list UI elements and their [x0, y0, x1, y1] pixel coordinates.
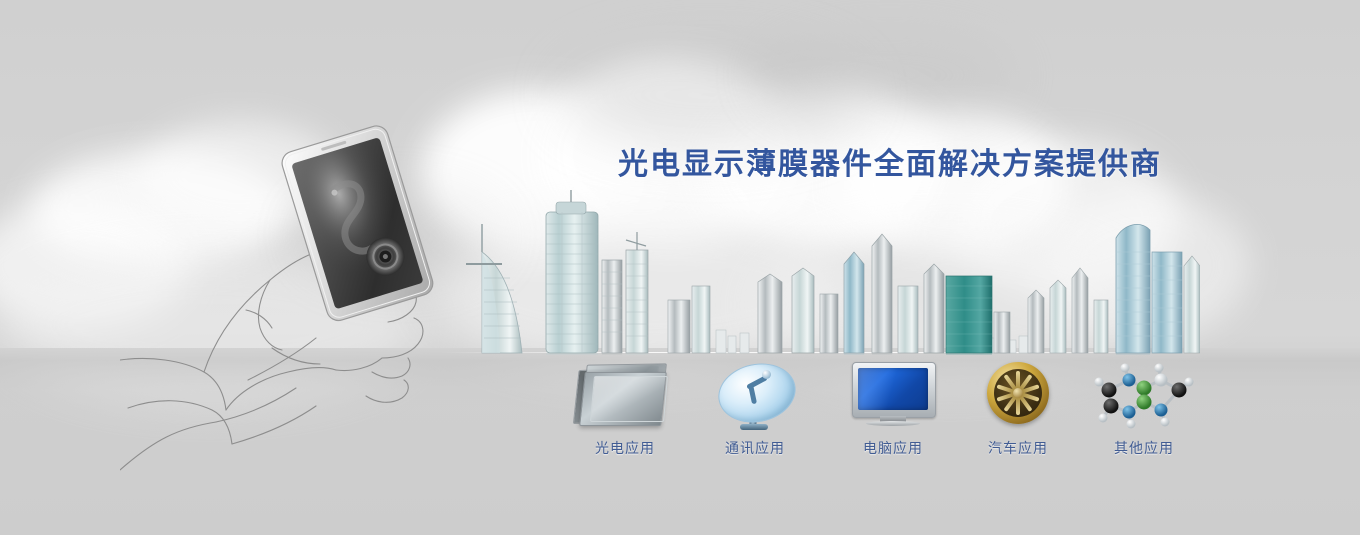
application-item-communication[interactable]: 通讯应用	[690, 358, 820, 458]
city-skyline-silhouette	[440, 190, 1200, 355]
hand-holding-smartphone-sketch	[120, 110, 480, 500]
application-label: 其他应用	[1079, 438, 1209, 458]
hero-banner: 光电显示薄膜器件全面解决方案提供商 光电应用 通讯应用	[0, 0, 1360, 535]
application-label: 电脑应用	[828, 438, 958, 458]
application-item-automotive[interactable]: 汽车应用	[953, 358, 1083, 458]
molecule-model-icon	[1089, 358, 1199, 430]
application-label: 通讯应用	[690, 438, 820, 458]
application-item-other[interactable]: 其他应用	[1079, 358, 1209, 458]
satellite-dish-icon	[700, 358, 810, 430]
glass-film-stack-icon	[570, 358, 680, 430]
application-item-optoelectronic[interactable]: 光电应用	[560, 358, 690, 458]
application-label: 汽车应用	[953, 438, 1083, 458]
application-item-computer[interactable]: 电脑应用	[828, 358, 958, 458]
application-label: 光电应用	[560, 438, 690, 458]
page-title: 光电显示薄膜器件全面解决方案提供商	[618, 139, 1162, 183]
car-wheel-rim-icon	[963, 358, 1073, 430]
computer-monitor-icon	[838, 358, 948, 430]
